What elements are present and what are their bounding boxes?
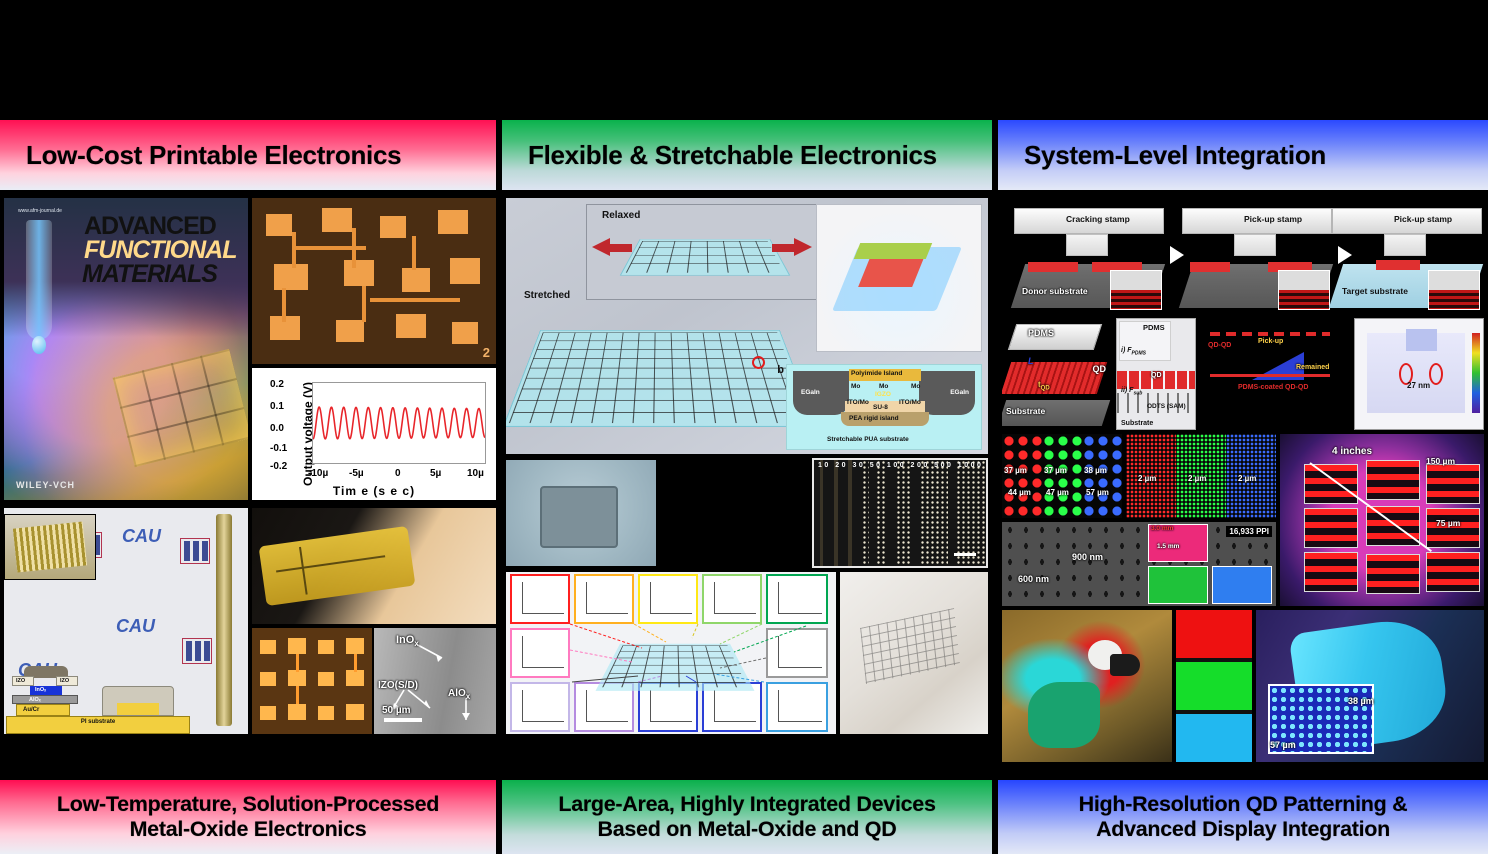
column1-footer-line1: Low-Temperature, Solution-Processed bbox=[57, 792, 439, 817]
chart-x-tick: 5µ bbox=[430, 468, 441, 479]
column2-footer-line1: Large-Area, Highly Integrated Devices bbox=[558, 792, 935, 817]
chart-y-tick: 0.0 bbox=[270, 423, 284, 434]
stretchable-array-on-skin bbox=[860, 608, 960, 684]
circuit-trace bbox=[412, 236, 416, 270]
measure-38um-device: 38 µm bbox=[1348, 696, 1374, 706]
flexible-device-on-finger bbox=[259, 526, 416, 606]
ppi-6350-micrograph: 6,350 PPI 2 µm 2 µm 2 µm bbox=[1126, 434, 1276, 518]
knee-conformal-photo bbox=[840, 572, 988, 734]
xsec-izo-left: IZO bbox=[12, 676, 34, 686]
circuit-pad bbox=[396, 314, 426, 338]
tft-pad bbox=[346, 704, 364, 720]
tft-pad bbox=[288, 704, 306, 720]
xsec-aucr-label: Au/Cr bbox=[23, 707, 39, 713]
nanopattern-sem: 900 nm 600 nm 16,933 PPI 3.0 mm 1.5 mm bbox=[1002, 522, 1276, 606]
rigid-island-photo bbox=[506, 460, 656, 566]
column2-header-text: Flexible & Stretchable Electronics bbox=[528, 140, 937, 171]
label-pickup-stamp-1: Pick-up stamp bbox=[1244, 214, 1302, 224]
wafer-die bbox=[1304, 464, 1358, 504]
tft-pad bbox=[318, 640, 334, 654]
poster-root: Low-Cost Printable Electronics www.afm-j… bbox=[0, 0, 1488, 854]
stamp-post bbox=[1066, 234, 1108, 256]
tft-pad bbox=[260, 672, 276, 686]
column2-footer-banner: Large-Area, Highly Integrated Devices Ba… bbox=[502, 780, 992, 854]
tft-pad bbox=[260, 706, 276, 720]
label-qd-inset: QD bbox=[1151, 372, 1162, 379]
label-egain-left: EGaIn bbox=[801, 389, 820, 396]
sem-scale-bar-label: 50 µm bbox=[382, 705, 411, 716]
journal-cover-image: www.afm-journal.de ADVANCED FUNCTIONAL M… bbox=[4, 198, 248, 500]
tft-trace bbox=[354, 654, 357, 672]
ppi-341-micrograph: 341 PPI 37 µm 37 µm 38 µm 44 µm 47 µm 57… bbox=[1002, 434, 1122, 518]
label-tqd-subscript: QD bbox=[1041, 386, 1050, 392]
chart-x-tick: -10µ bbox=[308, 468, 328, 479]
magenta-panel-inset: 3.0 mm 1.5 mm bbox=[1148, 524, 1208, 562]
parrot-wing-graphic bbox=[1028, 682, 1100, 748]
label-odts-sam: ODTS (SAM) bbox=[1147, 403, 1186, 410]
label-ito-mo-right: ITO/Mo bbox=[899, 399, 921, 406]
sam-adhesion-schematic: PDMS i) FPDMS ii) Fsub QD ODTS (SAM) Sub… bbox=[1116, 318, 1196, 430]
column2-header-banner: Flexible & Stretchable Electronics bbox=[502, 120, 992, 190]
circuit-trace bbox=[292, 232, 296, 268]
label-relaxed: Relaxed bbox=[602, 210, 640, 221]
label-substrate-inset: Substrate bbox=[1121, 420, 1153, 427]
green-emission-panel bbox=[1176, 662, 1252, 710]
circuit-pad bbox=[402, 268, 430, 292]
chart-x-tick: 0 bbox=[395, 468, 401, 479]
chart-x-tick: 10µ bbox=[467, 468, 484, 479]
wafer-die bbox=[1366, 460, 1420, 500]
sem-strip-scale-bar bbox=[954, 553, 976, 556]
printed-array-graphic bbox=[113, 349, 248, 467]
adhesion-energy-chart: QD-QD PDMS-coated QD-QD Pick-up Remained bbox=[1200, 318, 1350, 430]
tft-pad bbox=[318, 672, 334, 686]
stretchable-array-schematic: Relaxed Stretched Polyimide Isla bbox=[506, 198, 988, 454]
measure-57um: 57 µm bbox=[1086, 488, 1109, 497]
xsec-gate-layer: Au/Cr bbox=[16, 704, 70, 716]
circuit-trace bbox=[362, 286, 366, 322]
qd-qd-dashed-line bbox=[1210, 332, 1330, 336]
sem-scale-bar bbox=[384, 718, 422, 722]
chart-x-tick: -5µ bbox=[349, 468, 364, 479]
pipette-graphic bbox=[26, 220, 52, 340]
wafer-die bbox=[1426, 464, 1480, 504]
label-egain-right: EGaIn bbox=[950, 389, 969, 396]
island-square bbox=[540, 486, 618, 548]
stamp-post bbox=[1234, 234, 1276, 256]
label-ito-mo-left: ITO/Mo bbox=[847, 399, 869, 406]
process-step-1: Cracking stamp Donor substrate bbox=[1014, 200, 1164, 312]
label-stretched: Stretched bbox=[524, 290, 570, 301]
coil-graphic bbox=[13, 521, 87, 572]
cover-title-line3: MATERIALS bbox=[82, 262, 217, 287]
label-L: L bbox=[1028, 356, 1034, 366]
measure-38um-blue: 38 µm bbox=[1084, 466, 1107, 475]
rgb-emission-panels bbox=[1176, 610, 1252, 762]
circuit-pad bbox=[266, 214, 292, 236]
profile-ridge bbox=[1406, 329, 1437, 351]
blue-panel-inset bbox=[1212, 566, 1272, 604]
xsec-substrate-label: PI substrate bbox=[81, 719, 115, 725]
label-pdms: PDMS bbox=[1028, 328, 1054, 338]
measure-600nm: 600 nm bbox=[1018, 574, 1049, 584]
label-force-ii: ii) Fsub bbox=[1121, 387, 1142, 396]
label-mo-left: Mo bbox=[851, 383, 860, 390]
sem-strip-numbers: 10 20 30 50 100 200 500 1000 bbox=[818, 462, 983, 469]
xsec-pi-substrate: PI substrate bbox=[6, 716, 190, 734]
flexible-substrate-photo: CAU CAU CAU CAU IZO IZO InOₓ AlOₓ Au/Cr … bbox=[4, 508, 248, 734]
circuit-pad bbox=[344, 260, 374, 286]
tft-pad bbox=[346, 670, 364, 686]
column-flexible-stretchable: Flexible & Stretchable Electronics Relax… bbox=[502, 120, 992, 854]
sem-strip bbox=[848, 460, 852, 566]
measure-2um-blue: 2 µm bbox=[1238, 474, 1256, 483]
circuit-pad bbox=[450, 258, 480, 284]
stretch-arrow-right-bar bbox=[772, 244, 794, 252]
circuit-trace bbox=[292, 246, 366, 250]
tft-pad bbox=[346, 638, 364, 654]
finger-conformal-photo bbox=[252, 508, 496, 624]
label-qd: QD bbox=[1093, 364, 1107, 374]
transfer-curve-grid bbox=[506, 572, 836, 734]
process-step-2: Pick-up stamp bbox=[1182, 200, 1332, 312]
sem-label-alox: AlOx bbox=[448, 688, 470, 701]
sem-strip bbox=[876, 460, 886, 566]
sem-strip bbox=[834, 460, 838, 566]
qd-film-layer bbox=[1002, 362, 1107, 394]
wafer-die bbox=[1304, 552, 1358, 592]
sem-strip bbox=[956, 460, 986, 566]
rgb-panel-insets: 3.0 mm 1.5 mm bbox=[1148, 524, 1274, 604]
panel-letter-b: b bbox=[777, 364, 784, 376]
measure-1-5mm: 1.5 mm bbox=[1157, 543, 1179, 550]
tft-pad bbox=[260, 640, 276, 654]
label-pea-island: PEA rigid island bbox=[849, 415, 899, 422]
measure-37um-green: 37 µm bbox=[1044, 466, 1067, 475]
label-pdms-coated-qd: PDMS-coated QD-QD bbox=[1238, 384, 1308, 391]
measure-150um: 150 µm bbox=[1426, 456, 1455, 466]
callout-leader-lines bbox=[506, 572, 836, 734]
label-igzo: IGZO bbox=[875, 391, 891, 398]
column1-footer-line2: Metal-Oxide Electronics bbox=[57, 817, 439, 842]
circuit-pad bbox=[438, 210, 468, 234]
circuit-trace bbox=[370, 298, 460, 302]
substrate-inset-photo bbox=[4, 514, 96, 580]
label-feature-size: 27 nm bbox=[1407, 381, 1430, 390]
xsec-second-device bbox=[102, 686, 174, 716]
step2-inset bbox=[1278, 270, 1330, 310]
stretch-arrow-left bbox=[592, 238, 610, 256]
column1-header-banner: Low-Cost Printable Electronics bbox=[0, 120, 496, 190]
threshold-line bbox=[1210, 374, 1330, 377]
chart-plot-area bbox=[312, 382, 486, 464]
xsec-izo-left-label: IZO bbox=[16, 678, 25, 684]
rolled-substrate-photo bbox=[216, 514, 232, 726]
cau-logo-mark: CAU bbox=[116, 616, 155, 637]
device-sem-image: InOx IZO(S/D) AlOx 50 µm bbox=[374, 628, 496, 734]
circuit-corner-number: 2 bbox=[483, 345, 490, 360]
column3-header-banner: System-Level Integration bbox=[998, 120, 1488, 190]
circuit-pad bbox=[380, 216, 406, 238]
xsec-izo-right: IZO bbox=[56, 676, 78, 686]
column1-header-text: Low-Cost Printable Electronics bbox=[26, 140, 401, 171]
qd-film-strip bbox=[1028, 262, 1078, 272]
relaxed-array-plate bbox=[620, 239, 791, 275]
label-substrate: Substrate bbox=[1006, 406, 1045, 416]
process-step-3: Pick-up stamp Target substrate bbox=[1332, 200, 1482, 312]
measure-3mm: 3.0 mm bbox=[1151, 525, 1173, 532]
measure-75um: 75 µm bbox=[1436, 518, 1460, 528]
green-panel-inset bbox=[1148, 566, 1208, 604]
output-voltage-chart: Output voltage (V) 0.2 0.1 0.0 -0.1 -0.2… bbox=[252, 368, 496, 500]
tft-pad bbox=[288, 670, 306, 686]
column-printable-electronics: Low-Cost Printable Electronics www.afm-j… bbox=[0, 120, 496, 854]
device-cross-section-diagram: IZO IZO InOₓ AlOₓ Au/Cr PI substrate bbox=[6, 652, 190, 734]
pdms-qd-schematic: PDMS QD Substrate L tQD bbox=[1002, 318, 1112, 430]
circuit-micrograph-image: 2 bbox=[252, 198, 496, 364]
column3-footer-banner: High-Resolution QD Patterning & Advanced… bbox=[998, 780, 1488, 854]
strip-sem-image: 10 20 30 50 100 200 500 1000 bbox=[812, 458, 988, 568]
label-pua-substrate: Stretchable PUA substrate bbox=[827, 436, 909, 443]
xsec-inox-layer: InOₓ bbox=[30, 686, 62, 695]
circuit-trace bbox=[282, 288, 286, 322]
stretch-arrow-right bbox=[794, 238, 812, 256]
sem-strip bbox=[862, 460, 869, 566]
hotspot-marker-right bbox=[1429, 363, 1443, 385]
wafer-die bbox=[1366, 554, 1420, 594]
chart-y-tick: 0.2 bbox=[270, 379, 284, 390]
measure-2um-red: 2 µm bbox=[1138, 474, 1156, 483]
cover-masthead: www.afm-journal.de bbox=[18, 208, 78, 216]
zoom-callout-circle bbox=[752, 356, 765, 369]
chart-y-tick: -0.1 bbox=[270, 443, 287, 454]
blue-subpixel-array bbox=[1082, 434, 1122, 518]
green-subpixel-array bbox=[1042, 434, 1082, 518]
tft-pad bbox=[288, 638, 306, 654]
qd-film-strip bbox=[1190, 262, 1230, 272]
red-emission-panel bbox=[1176, 610, 1252, 658]
column-system-level-integration: System-Level Integration Cracking stamp … bbox=[998, 120, 1488, 854]
label-remained: Remained bbox=[1296, 364, 1329, 371]
xsec-alox-label: AlOₓ bbox=[29, 697, 41, 703]
label-force-i-subscript: PDMS bbox=[1132, 350, 1146, 356]
measure-47um: 47 µm bbox=[1046, 488, 1069, 497]
label-cracking-stamp: Cracking stamp bbox=[1066, 214, 1130, 224]
label-mo-right: Mo bbox=[911, 383, 920, 390]
xsec-alox-layer: AlOₓ bbox=[12, 695, 78, 704]
label-donor-substrate: Donor substrate bbox=[1022, 286, 1088, 296]
circuit-pad bbox=[452, 322, 478, 344]
measure-57um-device: 57 µm bbox=[1270, 740, 1296, 750]
sem-strip bbox=[920, 460, 948, 566]
four-inch-wafer-photo: 4 inches 150 µm 75 µm bbox=[1280, 434, 1484, 606]
device-stack-cross-section: Polyimide Island EGaIn EGaIn Mo Mo Mo IG… bbox=[786, 364, 982, 450]
stretched-array-grid bbox=[509, 332, 811, 423]
pdms-slab bbox=[1008, 324, 1102, 350]
sem-strip bbox=[820, 460, 823, 566]
stretched-array-plate bbox=[506, 330, 817, 427]
waveform-svg bbox=[313, 383, 485, 463]
flexible-blue-emitting-device-photo: 38 µm 57 µm bbox=[1256, 610, 1484, 762]
tft-trace bbox=[296, 654, 299, 672]
measure-37um-red: 37 µm bbox=[1004, 466, 1027, 475]
circuit-pad bbox=[322, 208, 352, 232]
qd-film-strip bbox=[1376, 260, 1420, 270]
stamp-post bbox=[1384, 234, 1426, 256]
relaxed-array-grid bbox=[626, 241, 784, 273]
step1-inset bbox=[1110, 270, 1162, 310]
circuit-pad bbox=[274, 264, 308, 290]
xsec-inox-label: InOₓ bbox=[35, 687, 46, 693]
stretch-arrow-left-bar bbox=[610, 244, 632, 252]
sem-label-inox-subscript: x bbox=[414, 639, 418, 648]
transfer-printing-process-diagram: Cracking stamp Donor substrate Pick-up s… bbox=[1002, 198, 1484, 314]
label-mo-mid: Mo bbox=[879, 383, 888, 390]
wafer-die bbox=[1304, 508, 1358, 548]
chart-x-axis-label: Tim e (s e c) bbox=[252, 484, 496, 498]
label-pdms-inset: PDMS bbox=[1143, 323, 1165, 332]
label-polyimide-island: Polyimide Island bbox=[851, 370, 902, 377]
label-pickup-stamp-2: Pick-up stamp bbox=[1394, 214, 1452, 224]
column3-footer-line2: Advanced Display Integration bbox=[1079, 817, 1408, 842]
label-pickup: Pick-up bbox=[1258, 338, 1283, 345]
cau-logo-mark: CAU bbox=[122, 526, 161, 547]
parrot-display-photo bbox=[1002, 610, 1172, 762]
gist-logo-mark bbox=[180, 538, 210, 564]
sem-label-izo: IZO(S/D) bbox=[378, 680, 418, 691]
label-target-substrate: Target substrate bbox=[1342, 286, 1408, 296]
label-tqd: tQD bbox=[1038, 380, 1050, 392]
cover-publisher: WILEY-VCH bbox=[16, 480, 75, 490]
column3-footer-line1: High-Resolution QD Patterning & bbox=[1079, 792, 1408, 817]
pixel-electrode-layer bbox=[854, 243, 932, 259]
xsec-second-gate bbox=[117, 703, 159, 715]
label-qd-qd: QD-QD bbox=[1208, 342, 1231, 349]
sem-label-inox: InOx bbox=[396, 634, 419, 648]
measure-44um: 44 µm bbox=[1008, 488, 1031, 497]
cover-title-line1: ADVANCED bbox=[84, 214, 216, 239]
chart-y-tick: 0.1 bbox=[270, 401, 284, 412]
chart-y-tick: -0.2 bbox=[270, 461, 287, 472]
label-force-i: i) FPDMS bbox=[1121, 347, 1146, 356]
red-subpixel-array bbox=[1002, 434, 1042, 518]
label-4-inches: 4 inches bbox=[1332, 446, 1372, 457]
ink-droplet-graphic bbox=[32, 336, 46, 354]
label-su8: SU-8 bbox=[873, 404, 888, 411]
wafer-die bbox=[1426, 552, 1480, 592]
wafer-die bbox=[1366, 506, 1420, 546]
circuit-pad bbox=[336, 320, 364, 342]
sem-label-alox-subscript: x bbox=[466, 692, 470, 701]
color-scale-bar bbox=[1472, 333, 1480, 413]
afm-depth-profile: 27 nm bbox=[1354, 318, 1484, 430]
xsec-izo-right-label: IZO bbox=[60, 678, 69, 684]
cover-title-line2: FUNCTIONAL bbox=[84, 238, 236, 263]
column1-footer-banner: Low-Temperature, Solution-Processed Meta… bbox=[0, 780, 496, 854]
measure-900nm: 900 nm bbox=[1072, 552, 1103, 562]
measure-2um-green: 2 µm bbox=[1188, 474, 1206, 483]
single-pixel-3d-view bbox=[816, 204, 982, 352]
column2-footer-line2: Based on Metal-Oxide and QD bbox=[558, 817, 935, 842]
wafer-die bbox=[1426, 508, 1480, 548]
tft-trace bbox=[296, 686, 299, 704]
label-force-ii-subscript: sub bbox=[1133, 390, 1142, 396]
tft-pad bbox=[318, 706, 334, 720]
sem-strip bbox=[896, 460, 912, 566]
blue-emission-panel bbox=[1176, 714, 1252, 762]
column3-header-text: System-Level Integration bbox=[1024, 140, 1326, 171]
parrot-beak-graphic bbox=[1110, 654, 1140, 676]
step3-inset bbox=[1428, 270, 1480, 310]
tft-array-optical-micrograph bbox=[252, 628, 372, 734]
